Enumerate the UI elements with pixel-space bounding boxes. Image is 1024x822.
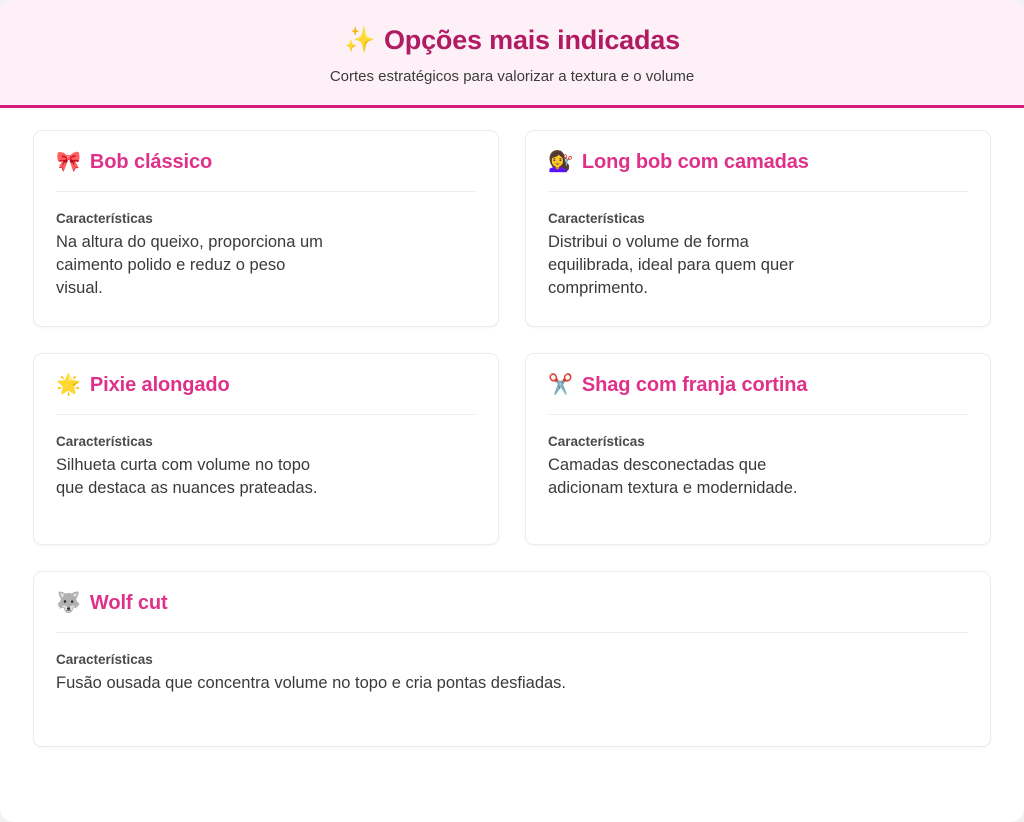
characteristics-value: Fusão ousada que concentra volume no top… xyxy=(56,672,968,695)
card-body: Características Fusão ousada que concent… xyxy=(56,633,968,695)
sparkles-icon: ✨ xyxy=(344,28,375,53)
characteristics-label: Características xyxy=(56,210,476,228)
card-heading: 🎀 Bob clássico xyxy=(56,151,476,192)
characteristics-label: Características xyxy=(548,433,968,451)
card-body: Características Distribui o volume de fo… xyxy=(548,192,968,300)
woman-haircut-icon: 💇‍♀️ xyxy=(548,152,573,172)
characteristics-label: Características xyxy=(56,433,476,451)
characteristics-label: Características xyxy=(548,210,968,228)
recommended-options-panel: ✨ Opções mais indicadas Cortes estratégi… xyxy=(0,0,1024,822)
panel-header: ✨ Opções mais indicadas Cortes estratégi… xyxy=(0,0,1024,108)
card-heading: ✂️ Shag com franja cortina xyxy=(548,374,968,415)
card-title: Bob clássico xyxy=(90,151,212,174)
card-title: Wolf cut xyxy=(90,592,168,615)
page-title-text: Opções mais indicadas xyxy=(384,24,680,56)
card-title: Shag com franja cortina xyxy=(582,374,808,397)
characteristics-value: Camadas desconectadas que adicionam text… xyxy=(548,454,823,500)
card-heading: 🐺 Wolf cut xyxy=(56,592,968,633)
option-card[interactable]: 🎀 Bob clássico Características Na altura… xyxy=(33,130,499,327)
page-title: ✨ Opções mais indicadas xyxy=(20,24,1004,56)
glowing-star-icon: 🌟 xyxy=(56,375,81,395)
characteristics-value: Na altura do queixo, proporciona um caim… xyxy=(56,231,331,299)
characteristics-value: Distribui o volume de forma equilibrada,… xyxy=(548,231,823,299)
option-card[interactable]: 💇‍♀️ Long bob com camadas Característica… xyxy=(525,130,991,327)
options-region: 🎀 Bob clássico Características Na altura… xyxy=(0,108,1024,822)
wolf-icon: 🐺 xyxy=(56,593,81,613)
card-heading: 💇‍♀️ Long bob com camadas xyxy=(548,151,968,192)
card-body: Características Silhueta curta com volum… xyxy=(56,415,476,500)
option-card[interactable]: ✂️ Shag com franja cortina Característic… xyxy=(525,353,991,545)
card-title: Long bob com camadas xyxy=(582,151,809,174)
card-body: Características Camadas desconectadas qu… xyxy=(548,415,968,500)
ribbon-icon: 🎀 xyxy=(56,152,81,172)
page-subtitle: Cortes estratégicos para valorizar a tex… xyxy=(20,67,1004,87)
characteristics-label: Características xyxy=(56,651,968,669)
option-card[interactable]: 🐺 Wolf cut Características Fusão ousada … xyxy=(33,571,991,747)
scissors-icon: ✂️ xyxy=(548,375,573,395)
card-title: Pixie alongado xyxy=(90,374,230,397)
option-card[interactable]: 🌟 Pixie alongado Características Silhuet… xyxy=(33,353,499,545)
characteristics-value: Silhueta curta com volume no topo que de… xyxy=(56,454,331,500)
options-grid: 🎀 Bob clássico Características Na altura… xyxy=(33,130,991,747)
card-body: Características Na altura do queixo, pro… xyxy=(56,192,476,300)
card-heading: 🌟 Pixie alongado xyxy=(56,374,476,415)
